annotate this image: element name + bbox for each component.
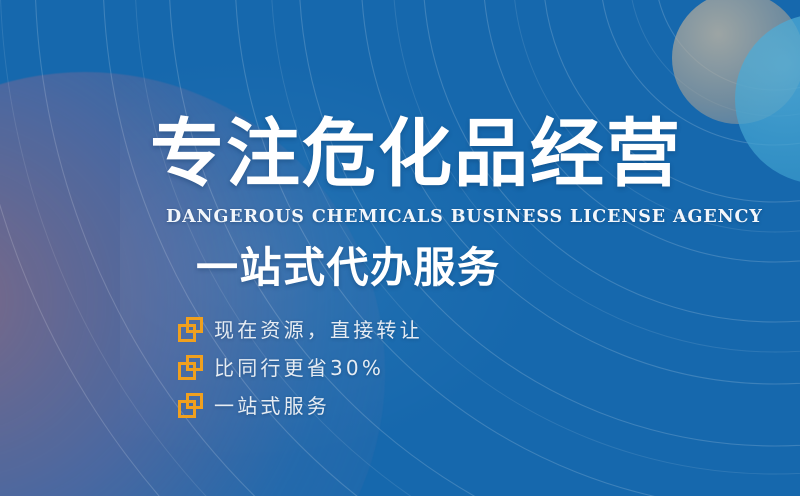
feature-item: 一站式服务 xyxy=(178,392,423,419)
banner-subtitle-english: DANGEROUS CHEMICALS BUSINESS LICENSE AGE… xyxy=(166,206,763,228)
banner-subtitle-chinese: 一站式代办服务 xyxy=(196,243,501,293)
feature-list: 现在资源，直接转让 比同行更省30% 一站式服务 xyxy=(178,316,423,419)
promo-banner: 专注危化品经营 DANGEROUS CHEMICALS BUSINESS LIC… xyxy=(0,0,800,496)
banner-title: 专注危化品经营 xyxy=(150,112,682,196)
feature-label: 一站式服务 xyxy=(214,393,330,419)
overlapping-squares-icon xyxy=(178,317,203,342)
feature-label: 现在资源，直接转让 xyxy=(214,317,423,343)
feature-item: 现在资源，直接转让 xyxy=(178,316,423,343)
overlapping-squares-icon xyxy=(178,355,203,380)
feature-label: 比同行更省30% xyxy=(214,355,384,381)
overlapping-squares-icon xyxy=(178,393,203,418)
banner-content: 专注危化品经营 DANGEROUS CHEMICALS BUSINESS LIC… xyxy=(0,0,800,496)
feature-item: 比同行更省30% xyxy=(178,354,423,381)
